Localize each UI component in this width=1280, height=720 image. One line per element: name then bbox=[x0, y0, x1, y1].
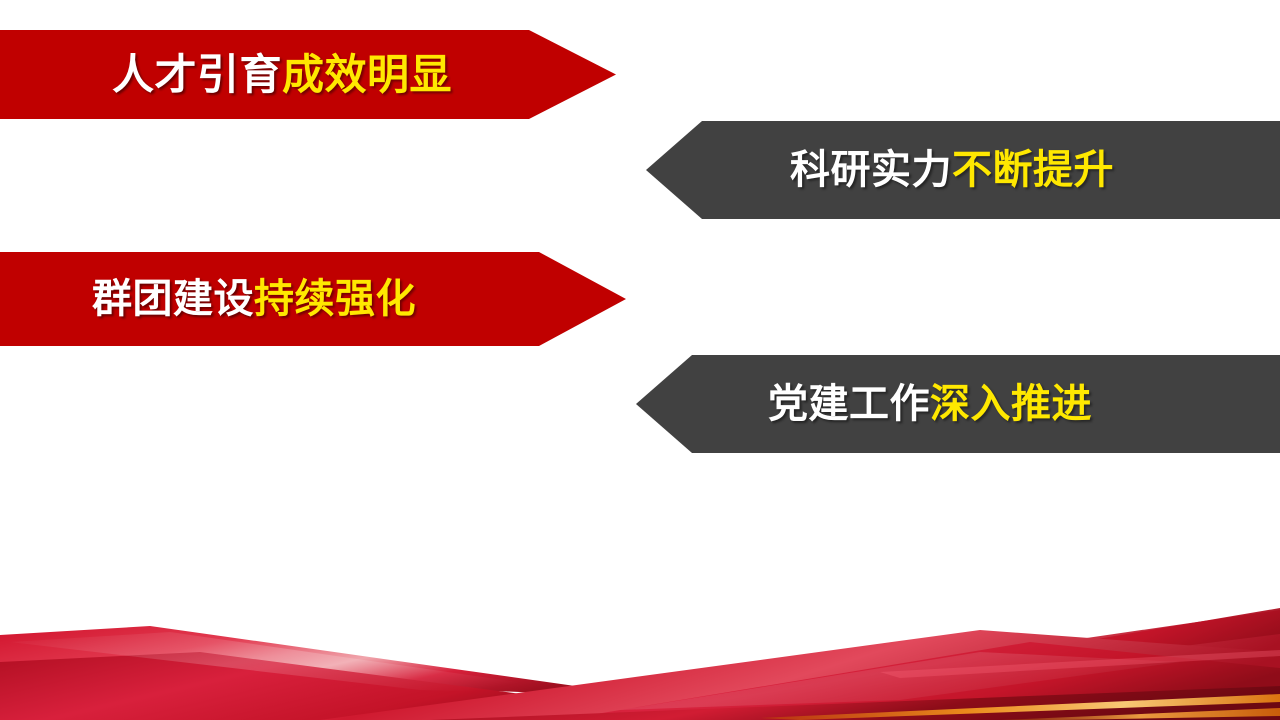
banner-union-building: 群团建设持续强化 bbox=[0, 252, 626, 346]
banner-union-label-white: 群团建设 bbox=[92, 277, 254, 321]
banner-party-label: 党建工作深入推进 bbox=[768, 384, 1092, 424]
banner-research-label-yellow: 不断提升 bbox=[952, 148, 1114, 192]
banner-research-label: 科研实力不断提升 bbox=[790, 150, 1114, 190]
banner-party-label-yellow: 深入推进 bbox=[930, 382, 1092, 426]
banner-research-strength: 科研实力不断提升 bbox=[646, 121, 1280, 219]
banner-talent-label: 人才引育成效明显 bbox=[112, 54, 452, 96]
banner-talent-label-yellow: 成效明显 bbox=[282, 51, 452, 98]
banner-union-label-yellow: 持续强化 bbox=[254, 277, 416, 321]
slide-canvas: 人才引育成效明显 科研实力不断提升 群团建设持续强化 党建工作深入推进 bbox=[0, 0, 1280, 720]
banner-party-label-white: 党建工作 bbox=[768, 382, 930, 426]
banner-union-label: 群团建设持续强化 bbox=[92, 279, 416, 319]
banner-party-building: 党建工作深入推进 bbox=[636, 355, 1280, 453]
banner-research-label-white: 科研实力 bbox=[790, 148, 952, 192]
red-ribbon-decoration bbox=[0, 590, 1280, 720]
banner-talent-development: 人才引育成效明显 bbox=[0, 30, 616, 119]
banner-talent-label-white: 人才引育 bbox=[112, 51, 282, 98]
